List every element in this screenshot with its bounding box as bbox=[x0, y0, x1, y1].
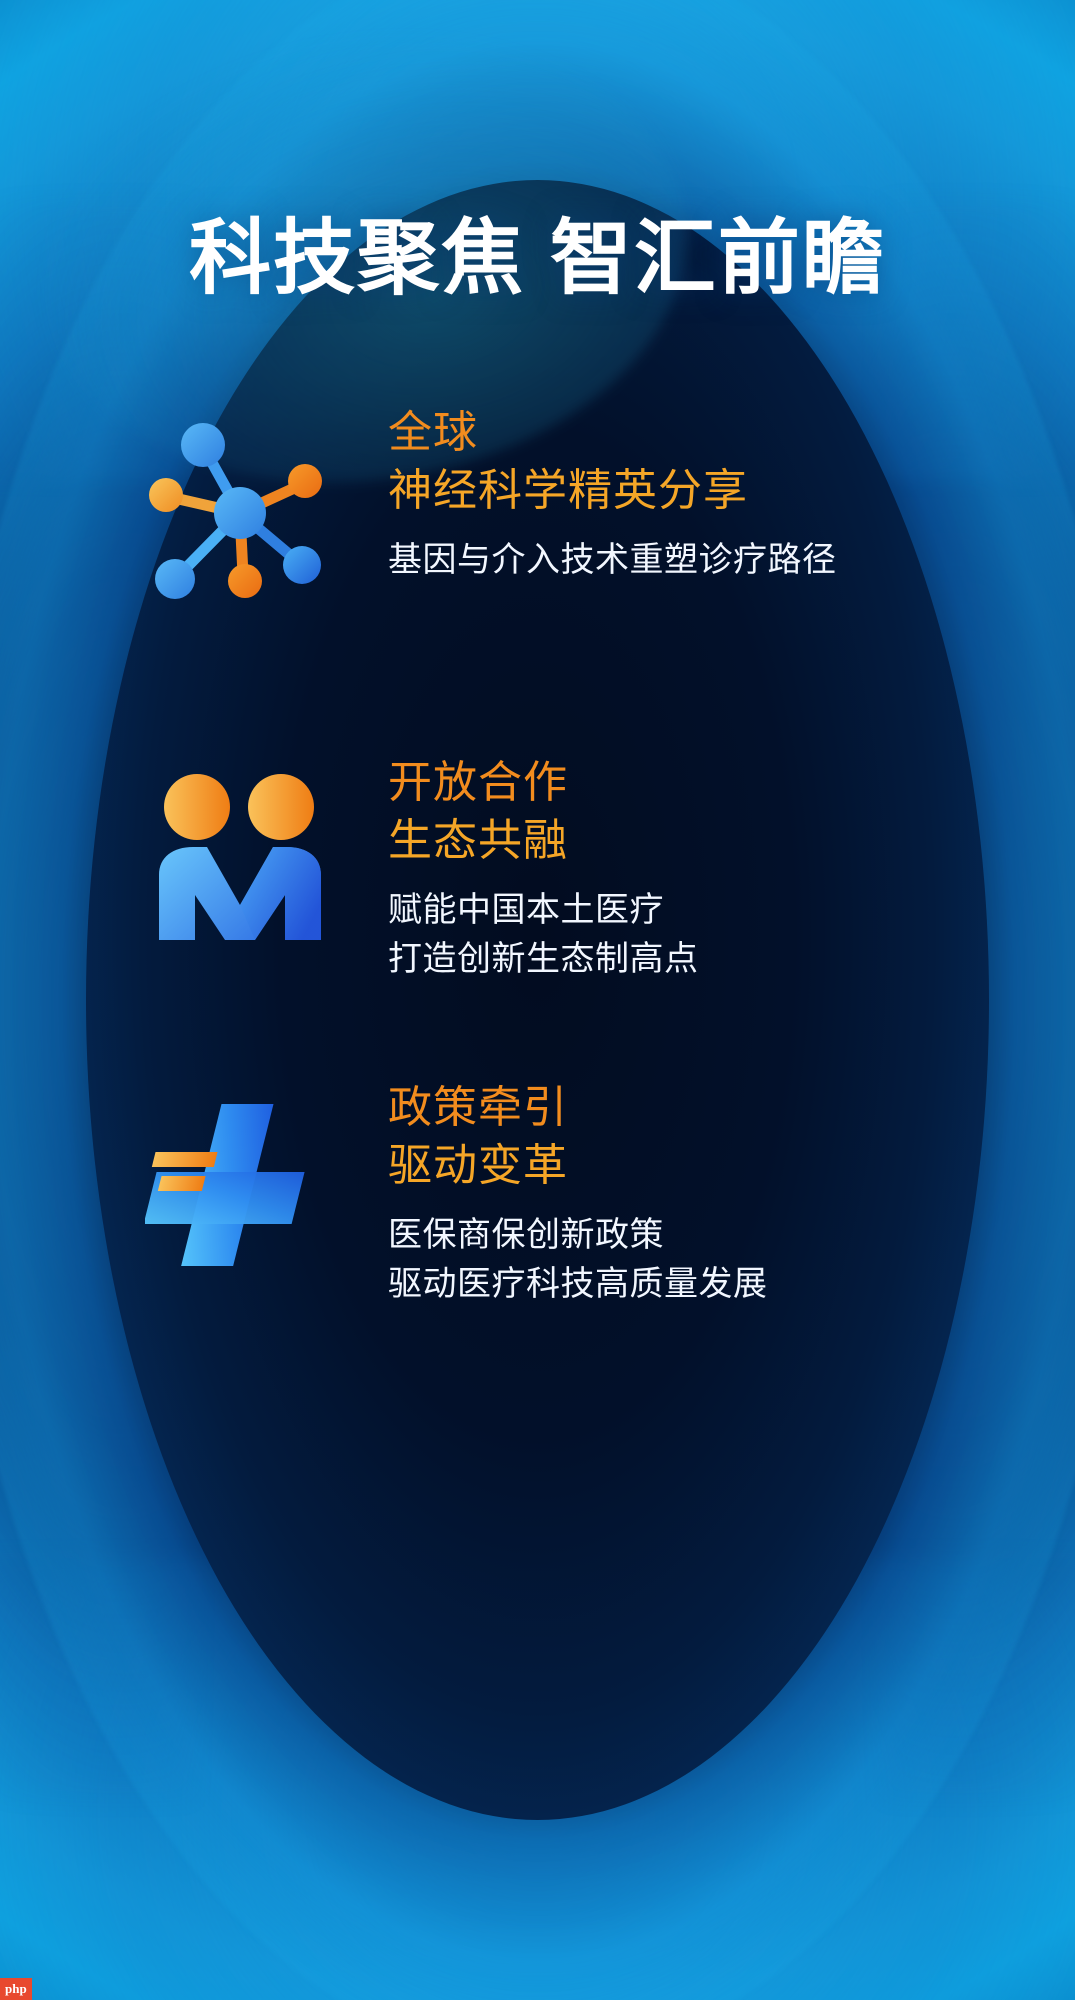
feature-sub-1: 基因与介入技术重塑诊疗路径 bbox=[388, 536, 837, 585]
feature-row-2: 开放合作 生态共融 赋能中国本土医疗 打造创新生态制高点 bbox=[140, 750, 699, 985]
feature-sub-1-line1: 基因与介入技术重塑诊疗路径 bbox=[388, 536, 837, 585]
feature-row-1: 全球 神经科学精英分享 基因与介入技术重塑诊疗路径 bbox=[140, 400, 837, 620]
feature-headline-1: 全球 神经科学精英分享 bbox=[388, 404, 837, 520]
poster-root: 科技聚焦 智汇前瞻 bbox=[0, 0, 1075, 2000]
feature-sub-3-line1: 医保商保创新政策 bbox=[388, 1211, 768, 1260]
feature-headline-2-line1: 开放合作 bbox=[388, 754, 699, 812]
feature-text-1: 全球 神经科学精英分享 基因与介入技术重塑诊疗路径 bbox=[388, 400, 837, 585]
feature-headline-3-line2: 驱动变革 bbox=[388, 1137, 768, 1195]
feature-headline-1-line1: 全球 bbox=[388, 404, 837, 462]
feature-headline-2-line2: 生态共融 bbox=[388, 812, 699, 870]
feature-sub-2: 赋能中国本土医疗 打造创新生态制高点 bbox=[388, 886, 699, 985]
feature-sub-2-line1: 赋能中国本土医疗 bbox=[388, 886, 699, 935]
feature-headline-2: 开放合作 生态共融 bbox=[388, 754, 699, 870]
feature-sub-2-line2: 打造创新生态制高点 bbox=[388, 935, 699, 984]
page-title: 科技聚焦 智汇前瞻 bbox=[0, 214, 1075, 304]
feature-headline-3-line1: 政策牵引 bbox=[388, 1079, 768, 1137]
partnership-people-icon bbox=[140, 750, 340, 970]
php-watermark: php bbox=[0, 1978, 32, 2000]
feature-text-3: 政策牵引 驱动变革 医保商保创新政策 驱动医疗科技高质量发展 bbox=[388, 1075, 768, 1310]
feature-text-2: 开放合作 生态共融 赋能中国本土医疗 打造创新生态制高点 bbox=[388, 750, 699, 985]
feature-headline-1-line2: 神经科学精英分享 bbox=[388, 462, 837, 520]
feature-sub-3: 医保商保创新政策 驱动医疗科技高质量发展 bbox=[388, 1211, 768, 1310]
feature-row-3: 政策牵引 驱动变革 医保商保创新政策 驱动医疗科技高质量发展 bbox=[140, 1075, 768, 1310]
medical-cross-icon bbox=[140, 1075, 340, 1295]
feature-headline-3: 政策牵引 驱动变革 bbox=[388, 1079, 768, 1195]
feature-sub-3-line2: 驱动医疗科技高质量发展 bbox=[388, 1260, 768, 1309]
molecule-network-icon bbox=[140, 400, 340, 620]
